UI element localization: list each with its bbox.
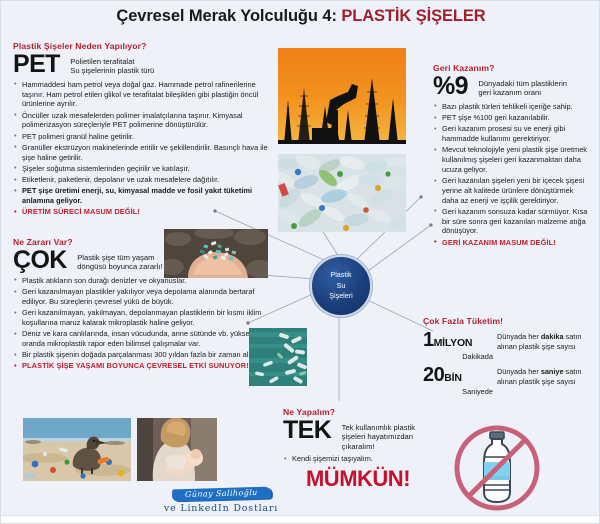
bottom-strip <box>1 515 600 523</box>
hub-line-2: Su <box>329 281 353 291</box>
beach-bird-photo <box>23 418 131 481</box>
hub-line-1: Plastik <box>329 270 353 280</box>
microplastics-hand-photo <box>164 229 268 278</box>
no-plastic-bottle-sign <box>449 416 551 516</box>
signature-subtitle: ve LinkedIn Dostları <box>126 503 316 514</box>
signature: Günay Salihoğlu ve LinkedIn Dostları <box>126 483 316 514</box>
oil-derricks-photo <box>278 48 406 144</box>
mother-baby-photo <box>137 418 217 481</box>
infographic-poster: Çevresel Merak Yolculuğu 4: PLASTİK ŞİŞE… <box>0 0 600 524</box>
signature-name: Günay Salihoğlu <box>171 487 270 502</box>
plastic-bottle-pile-photo <box>278 154 406 232</box>
center-hub: Plastik Su Şişeleri <box>310 255 372 317</box>
ocean-plastic-photo <box>249 328 307 386</box>
hub-line-3: Şişeleri <box>329 291 353 301</box>
